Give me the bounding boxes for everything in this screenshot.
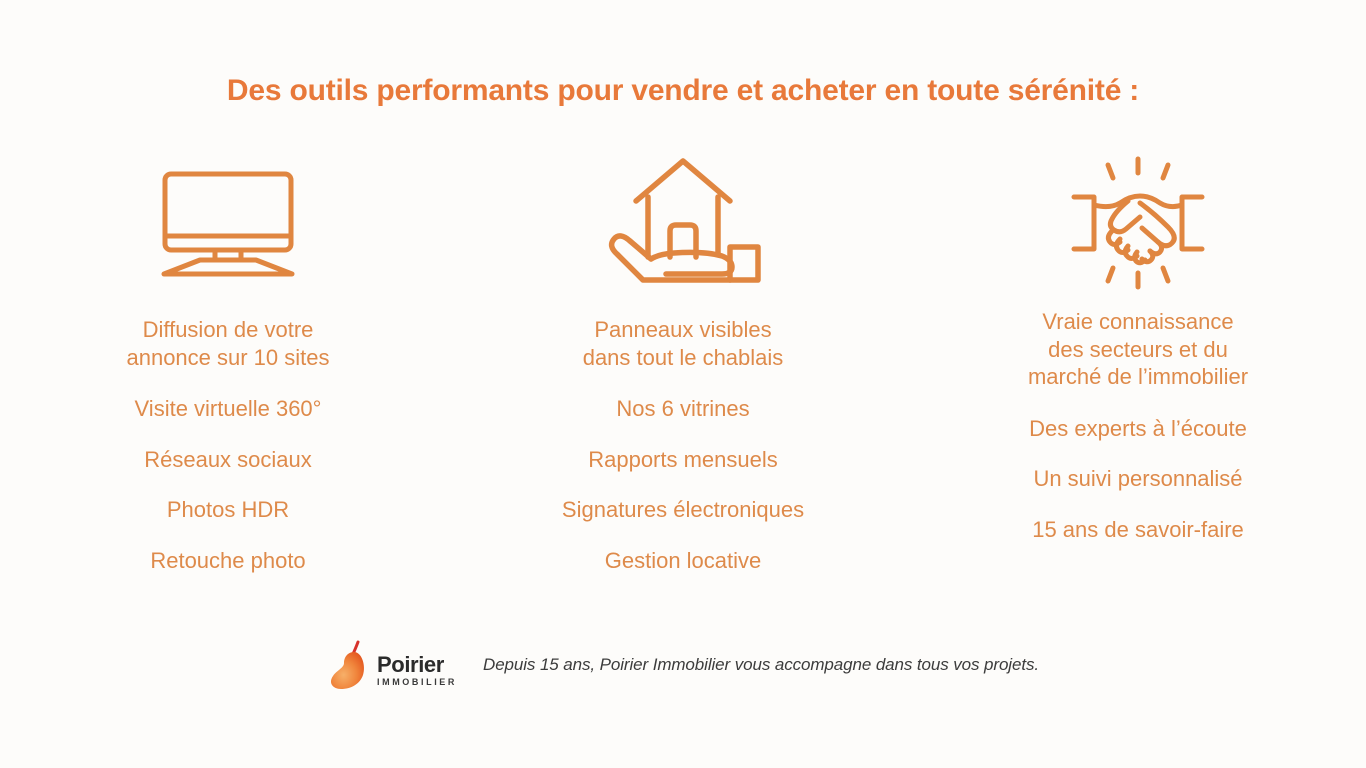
features-columns: Diffusion de votre annonce sur 10 sites … [0,148,1366,597]
list-item: Panneaux visibles dans tout le chablais [583,316,784,371]
list-item: Vraie connaissance des secteurs et du ma… [1028,308,1248,391]
list-item: Nos 6 vitrines [616,395,749,423]
list-item: Photos HDR [167,496,289,524]
footer: Poirier IMMOBILIER Depuis 15 ans, Poirie… [0,640,1366,690]
logo-name: Poirier [377,654,457,676]
list-item: Diffusion de votre annonce sur 10 sites [126,316,329,371]
feature-list: Vraie connaissance des secteurs et du ma… [911,308,1366,566]
list-item: Gestion locative [605,547,762,575]
pear-icon [327,640,373,690]
list-item: Visite virtuelle 360° [135,395,322,423]
list-item: Rapports mensuels [588,446,778,474]
list-item: Retouche photo [150,547,305,575]
list-item: Un suivi personnalisé [1033,465,1242,493]
house-in-hand-icon [604,148,762,298]
list-item: Réseaux sociaux [144,446,312,474]
logo-subtitle: IMMOBILIER [377,678,457,687]
feature-column-diffusion: Diffusion de votre annonce sur 10 sites … [1,148,456,597]
monitor-icon [158,148,298,298]
brand-logo: Poirier IMMOBILIER [327,640,457,690]
feature-list: Diffusion de votre annonce sur 10 sites … [1,316,456,597]
slide-canvas: Des outils performants pour vendre et ac… [0,0,1366,768]
feature-list: Panneaux visibles dans tout le chablais … [456,316,911,597]
page-title: Des outils performants pour vendre et ac… [0,74,1366,108]
handshake-icon [1068,148,1208,298]
feature-column-panneaux: Panneaux visibles dans tout le chablais … [456,148,911,597]
list-item: Signatures électroniques [562,496,804,524]
feature-column-connaissance: Vraie connaissance des secteurs et du ma… [911,148,1366,566]
footer-tagline: Depuis 15 ans, Poirier Immobilier vous a… [483,655,1039,675]
list-item: Des experts à l’écoute [1029,415,1247,443]
list-item: 15 ans de savoir-faire [1032,516,1244,544]
